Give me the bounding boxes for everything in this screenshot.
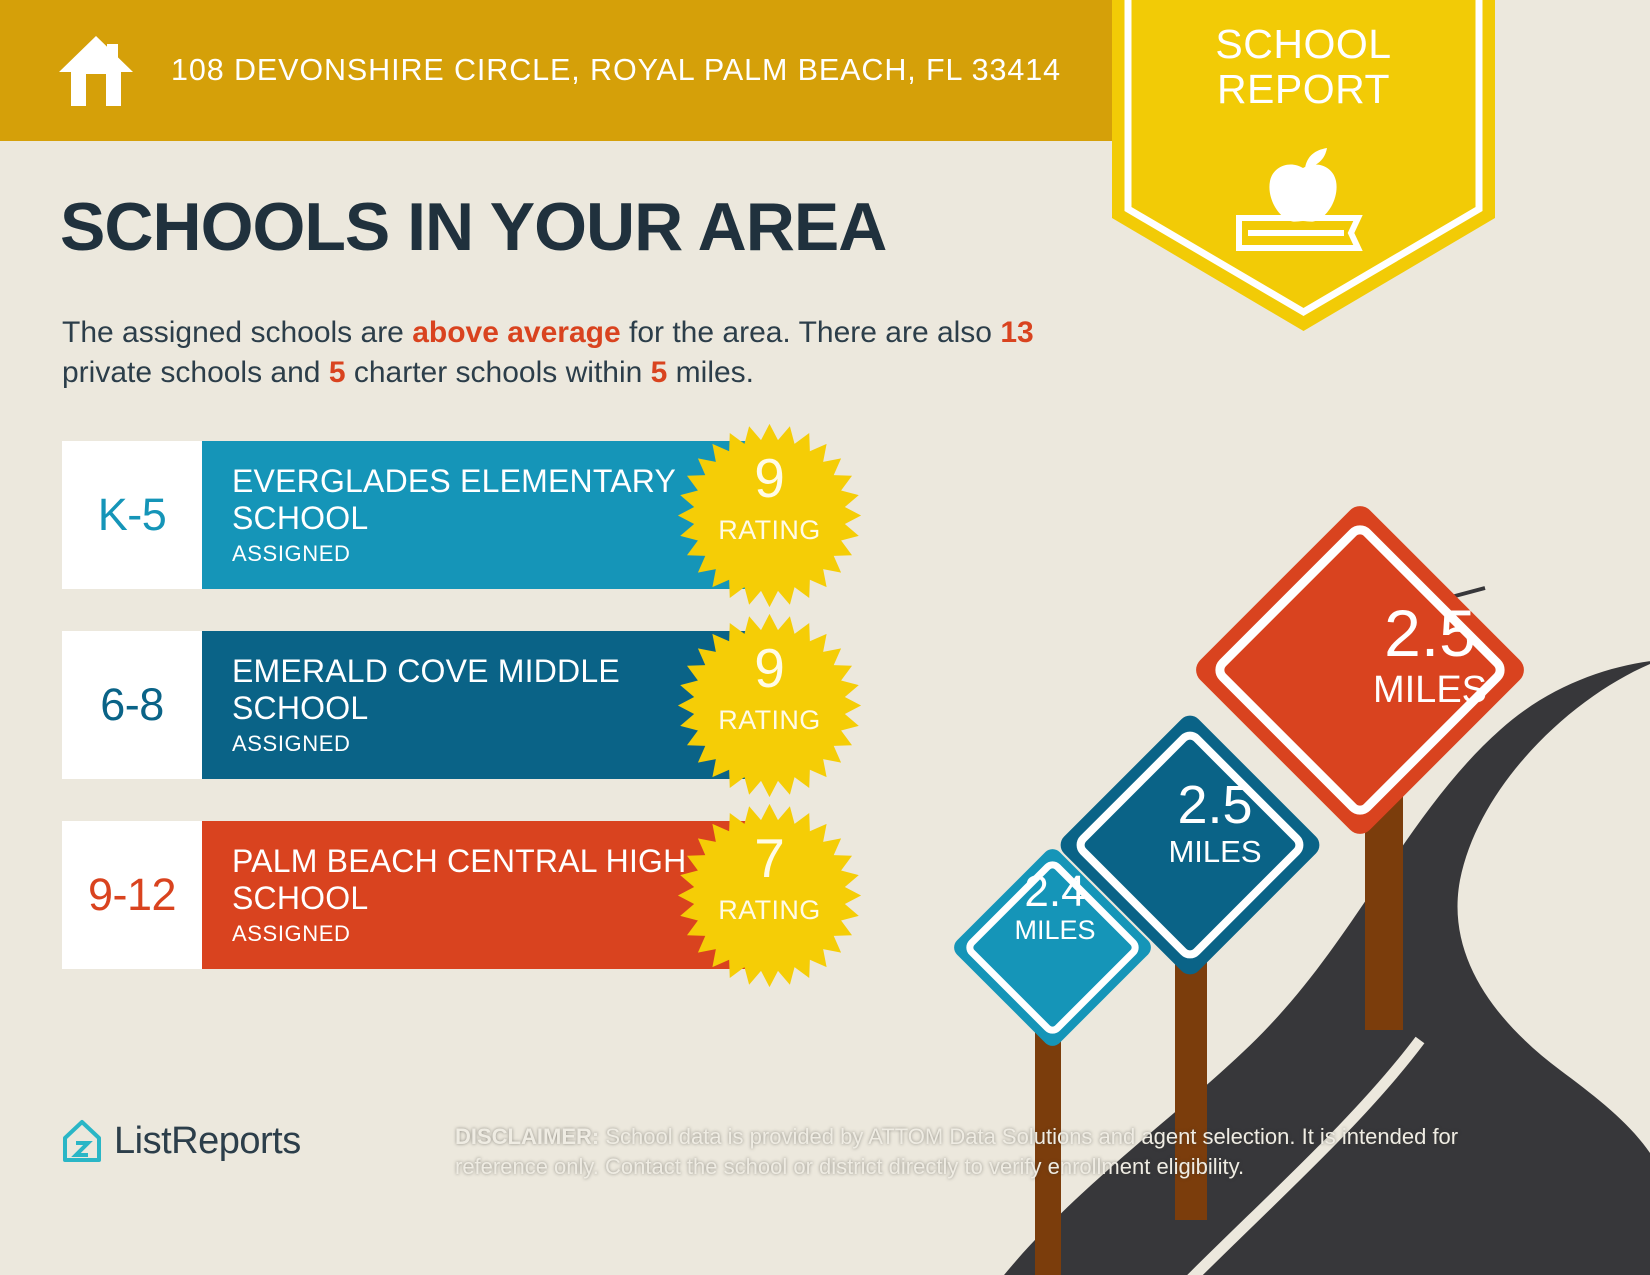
header-bar: 108 DEVONSHIRE CIRCLE, ROYAL PALM BEACH,…: [0, 0, 1185, 141]
grade-range-box: 6-8: [62, 631, 202, 779]
school-row[interactable]: 9-12 PALM BEACH CENTRAL HIGH SCHOOL ASSI…: [62, 821, 862, 969]
grade-range-box: 9-12: [62, 821, 202, 969]
subtitle-text-2: for the area. There are also: [621, 316, 1001, 349]
subtitle-text-3: private schools and: [62, 356, 329, 389]
badge-title: SCHOOL REPORT: [1106, 22, 1501, 112]
subtitle-highlight-private-count: 13: [1000, 316, 1033, 349]
subtitle-text-4: charter schools within: [346, 356, 651, 389]
disclaimer-body: School data is provided by ATTOM Data So…: [455, 1124, 1458, 1179]
rating-value: 9: [677, 451, 862, 506]
rating-value: 9: [677, 641, 862, 696]
property-address: 108 DEVONSHIRE CIRCLE, ROYAL PALM BEACH,…: [171, 53, 1061, 88]
rating-label: RATING: [677, 705, 862, 736]
infographic-canvas: 108 DEVONSHIRE CIRCLE, ROYAL PALM BEACH,…: [0, 0, 1650, 1275]
school-row[interactable]: K-5 EVERGLADES ELEMENTARY SCHOOL ASSIGNE…: [62, 441, 862, 589]
disclaimer-label: DISCLAIMER:: [455, 1124, 599, 1149]
subtitle-text-5: miles.: [667, 356, 754, 389]
grade-range-label: 6-8: [100, 679, 164, 731]
grade-range-box: K-5: [62, 441, 202, 589]
listreports-house-icon: [62, 1119, 102, 1163]
badge-line-1: SCHOOL: [1106, 22, 1501, 67]
subtitle-highlight-charter-count: 5: [329, 356, 346, 389]
home-icon: [57, 34, 135, 108]
rating-label: RATING: [677, 515, 862, 546]
page-title: SCHOOLS IN YOUR AREA: [60, 188, 886, 266]
school-report-badge: SCHOOL REPORT: [1106, 0, 1501, 337]
page-subtitle: The assigned schools are above average f…: [62, 313, 1102, 393]
subtitle-text-1: The assigned schools are: [62, 316, 412, 349]
disclaimer-text: DISCLAIMER: School data is provided by A…: [455, 1122, 1515, 1182]
rating-value: 7: [677, 831, 862, 886]
subtitle-highlight-average: above average: [412, 316, 620, 349]
school-list: K-5 EVERGLADES ELEMENTARY SCHOOL ASSIGNE…: [62, 441, 862, 1011]
subtitle-highlight-radius: 5: [651, 356, 668, 389]
rating-starburst: 9 RATING: [677, 423, 862, 608]
school-row[interactable]: 6-8 EMERALD COVE MIDDLE SCHOOL ASSIGNED …: [62, 631, 862, 779]
grade-range-label: 9-12: [88, 869, 176, 921]
badge-line-2: REPORT: [1106, 67, 1501, 112]
grade-range-label: K-5: [98, 489, 167, 541]
listreports-logo[interactable]: ListReports: [62, 1119, 301, 1163]
rating-starburst: 9 RATING: [677, 613, 862, 798]
rating-starburst: 7 RATING: [677, 803, 862, 988]
rating-label: RATING: [677, 895, 862, 926]
listreports-wordmark: ListReports: [114, 1120, 301, 1163]
